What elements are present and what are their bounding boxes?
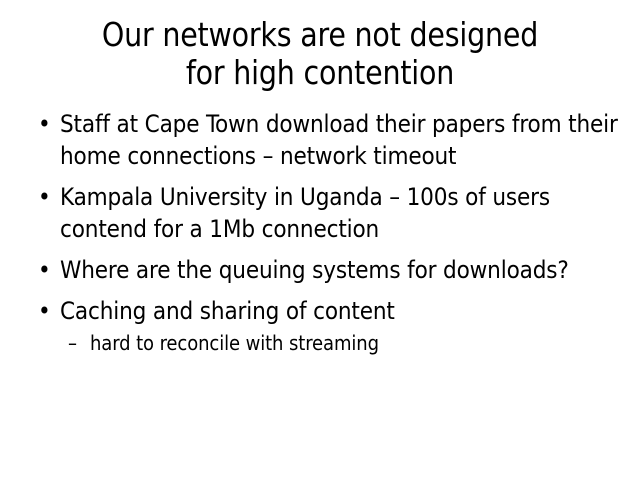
slide-title-line-2: for high contention [30, 54, 610, 92]
bullet-item: • Caching and sharing of content – hard … [30, 295, 620, 357]
sub-bullet-item: – hard to reconcile with streaming [60, 329, 620, 357]
bullet-marker-icon: • [38, 254, 54, 286]
bullet-item: • Staff at Cape Town download their pape… [30, 108, 620, 172]
bullet-text: Staff at Cape Town download their papers… [60, 108, 620, 172]
bullet-marker-icon: • [38, 108, 54, 140]
sub-bullet-marker-icon: – [68, 329, 84, 357]
slide-bullet-list: • Staff at Cape Town download their pape… [30, 108, 620, 357]
bullet-item: • Where are the queuing systems for down… [30, 254, 620, 286]
bullet-text: Kampala University in Uganda – 100s of u… [60, 181, 620, 245]
bullet-item: • Kampala University in Uganda – 100s of… [30, 181, 620, 245]
bullet-marker-icon: • [38, 181, 54, 213]
bullet-text: Where are the queuing systems for downlo… [60, 254, 620, 286]
sub-bullet-text: hard to reconcile with streaming [90, 329, 620, 357]
sub-bullet-list: – hard to reconcile with streaming [60, 329, 620, 357]
slide-canvas: Our networks are not designed for high c… [0, 0, 640, 480]
bullet-text: Caching and sharing of content [60, 295, 620, 327]
bullet-marker-icon: • [38, 295, 54, 327]
slide-title: Our networks are not designed for high c… [30, 16, 610, 92]
slide-title-line-1: Our networks are not designed [30, 16, 610, 54]
